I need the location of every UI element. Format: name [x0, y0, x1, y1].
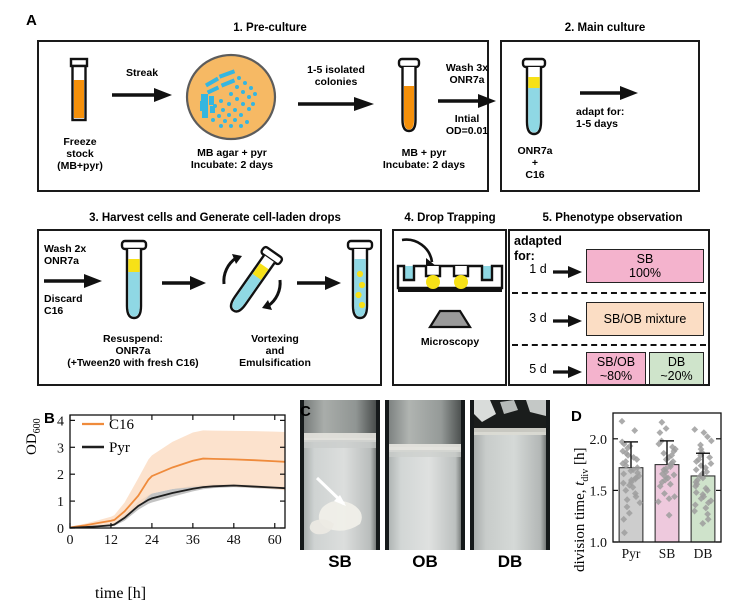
mb-pyr-tube-label: MB + pyr Incubate: 2 days	[372, 147, 476, 171]
microscopy-label: Microscopy	[400, 336, 500, 348]
svg-text:SB: SB	[659, 546, 676, 561]
streak-label: Streak	[112, 67, 172, 79]
svg-text:0: 0	[57, 522, 64, 537]
panel-b-plot: 0122436486001234	[0, 395, 300, 613]
photo-db-label: DB	[470, 552, 550, 572]
wash-2x-arrow	[42, 272, 104, 290]
svg-text:Pyr: Pyr	[622, 546, 641, 561]
initial-od-label: Intial OD=0.01	[432, 113, 502, 137]
to-drops-arrow	[295, 274, 343, 292]
svg-text:60: 60	[268, 533, 282, 548]
panel-b-legend-pyr: Pyr	[109, 440, 130, 457]
phenotype-box-sb-ob-80: SB/OB ~80%	[586, 352, 646, 385]
photo-sb-label: SB	[300, 552, 380, 572]
svg-text:3: 3	[57, 441, 64, 456]
svg-text:0: 0	[67, 533, 74, 548]
svg-text:2.0: 2.0	[590, 433, 608, 448]
row-5d-arrow	[553, 364, 583, 380]
svg-text:1.0: 1.0	[590, 536, 608, 551]
adapt-for-label: adapt for: 1-5 days	[576, 106, 686, 130]
vortex-tube	[208, 238, 296, 326]
emulsion-tube	[342, 240, 378, 322]
svg-text:12: 12	[104, 533, 118, 548]
photo-db	[470, 400, 550, 550]
panel-b-legend-c16: C16	[109, 417, 134, 434]
divider-2	[512, 344, 706, 346]
discard-c16-label: Discard C16	[44, 293, 108, 317]
drop-trap-chip	[396, 236, 504, 308]
mb-pyr-tube	[392, 58, 426, 134]
wash-3x-arrow	[436, 92, 498, 110]
phenotype-box-db-20: DB ~20%	[649, 352, 704, 385]
photo-sb	[300, 400, 380, 550]
row-1d-time: 1 d	[524, 262, 552, 277]
step-2-title: 2. Main culture	[510, 22, 700, 34]
resuspend-tube	[116, 240, 152, 322]
svg-text:36: 36	[186, 533, 200, 548]
adapted-for-label: adapted for:	[514, 234, 584, 264]
svg-text:1: 1	[57, 495, 64, 510]
agar-plate	[185, 54, 277, 140]
wash-3x-label: Wash 3x ONR7a	[432, 62, 502, 86]
divider-1	[512, 292, 706, 294]
photo-ob	[385, 400, 465, 550]
isolated-colonies-label: 1-5 isolated colonies	[292, 64, 380, 88]
step-1-title: 1. Pre-culture	[120, 22, 420, 34]
row-5d-time: 5 d	[524, 362, 552, 377]
panel-d-plot: PyrSBDB1.01.52.0	[555, 395, 730, 613]
freeze-stock-vial	[62, 58, 96, 130]
svg-text:48: 48	[227, 533, 241, 548]
step-3-title: 3. Harvest cells and Generate cell-laden…	[55, 212, 375, 224]
isolated-colonies-arrow	[296, 95, 376, 113]
streak-arrow	[110, 86, 174, 104]
panel-a-letter: A	[26, 12, 37, 29]
svg-text:1.5: 1.5	[590, 484, 608, 499]
freeze-stock-label: Freeze stock (MB+pyr)	[40, 136, 120, 172]
to-vortex-arrow	[160, 274, 208, 292]
svg-text:24: 24	[145, 533, 159, 548]
photo-ob-label: OB	[385, 552, 465, 572]
panel-c-letter: C	[300, 403, 311, 420]
step-4-title: 4. Drop Trapping	[390, 212, 510, 224]
row-1d-arrow	[553, 264, 583, 280]
panel-b-xlabel: time [h]	[95, 585, 146, 603]
svg-text:4: 4	[57, 414, 64, 429]
wash-2x-label: Wash 2x ONR7a	[44, 243, 108, 267]
agar-plate-label: MB agar + pyr Incubate: 2 days	[180, 147, 284, 171]
step-5-title: 5. Phenotype observation	[515, 212, 710, 224]
resuspend-label: Resuspend: ONR7a (+Tween20 with fresh C1…	[58, 333, 208, 369]
svg-text:DB: DB	[694, 546, 713, 561]
vortex-label: Vortexing and Emulsification	[215, 333, 335, 369]
microscope-objective-icon	[428, 307, 472, 331]
phenotype-box-sb-ob-mixture: SB/OB mixture	[586, 302, 704, 336]
row-3d-time: 3 d	[524, 311, 552, 326]
adapt-arrow	[578, 84, 640, 102]
row-3d-arrow	[553, 313, 583, 329]
svg-text:2: 2	[57, 468, 64, 483]
main-culture-tube	[516, 58, 552, 138]
phenotype-box-sb: SB 100%	[586, 249, 704, 283]
main-culture-tube-label: ONR7a + C16	[504, 145, 566, 181]
